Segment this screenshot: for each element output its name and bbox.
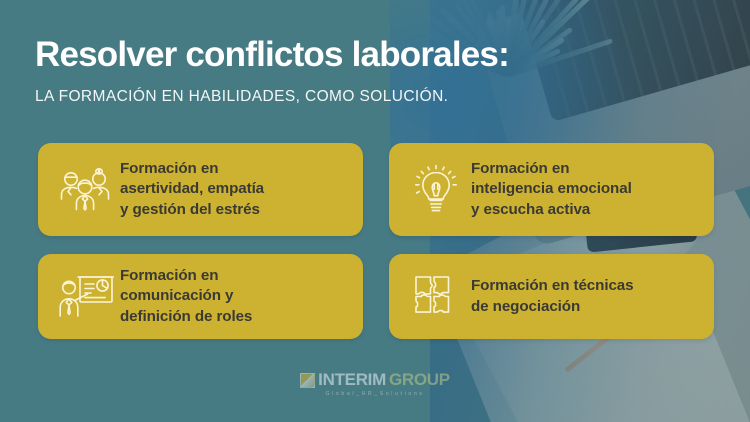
interim-group-logo: INTERIM GROUP Global_HR_Solutions (0, 370, 750, 397)
card-line-2: asertividad, empatía (120, 180, 264, 197)
page-title: Resolver conflictos laborales: (35, 35, 509, 75)
card-negociacion[interactable]: Formación en técnicas de negociación (389, 254, 714, 339)
presentation-board-icon (50, 274, 120, 320)
puzzle-pieces-icon (401, 274, 471, 319)
card-line-2: inteligencia emocional (471, 180, 632, 197)
card-line-1: Formación en (120, 160, 218, 177)
card-comunicacion[interactable]: Formación en comunicación y definición d… (38, 254, 363, 339)
card-line-3: definición de roles (120, 308, 252, 325)
card-line-1: Formación en (120, 267, 218, 284)
card-label: Formación en técnicas de negociación (471, 276, 704, 316)
card-asertividad[interactable]: Formación en asertividad, empatía y gest… (38, 143, 363, 236)
card-line-2: comunicación y (120, 287, 233, 304)
logo-square-mark (300, 373, 315, 388)
card-label: Formación en inteligencia emocional y es… (471, 159, 704, 219)
card-line-3: y escucha activa (471, 201, 590, 218)
lightbulb-icon (401, 165, 471, 215)
card-label: Formación en comunicación y definición d… (120, 266, 353, 326)
card-line-2: de negociación (471, 298, 580, 315)
logo-wordmark-row: INTERIM GROUP (300, 370, 450, 390)
logo-name-part1: INTERIM (318, 370, 386, 390)
slide-canvas: Resolver conflictos laborales: LA FORMAC… (0, 0, 750, 422)
three-people-icon (50, 168, 120, 212)
card-line-3: y gestión del estrés (120, 201, 260, 218)
card-label: Formación en asertividad, empatía y gest… (120, 159, 353, 219)
card-line-1: Formación en técnicas (471, 277, 634, 294)
page-subtitle: LA FORMACIÓN EN HABILIDADES, COMO SOLUCI… (35, 88, 448, 106)
card-grid: Formación en asertividad, empatía y gest… (38, 143, 714, 339)
card-line-1: Formación en (471, 160, 569, 177)
logo-tagline: Global_HR_Solutions (326, 391, 425, 397)
logo-name-part2: GROUP (389, 370, 450, 390)
card-inteligencia-emocional[interactable]: Formación en inteligencia emocional y es… (389, 143, 714, 236)
